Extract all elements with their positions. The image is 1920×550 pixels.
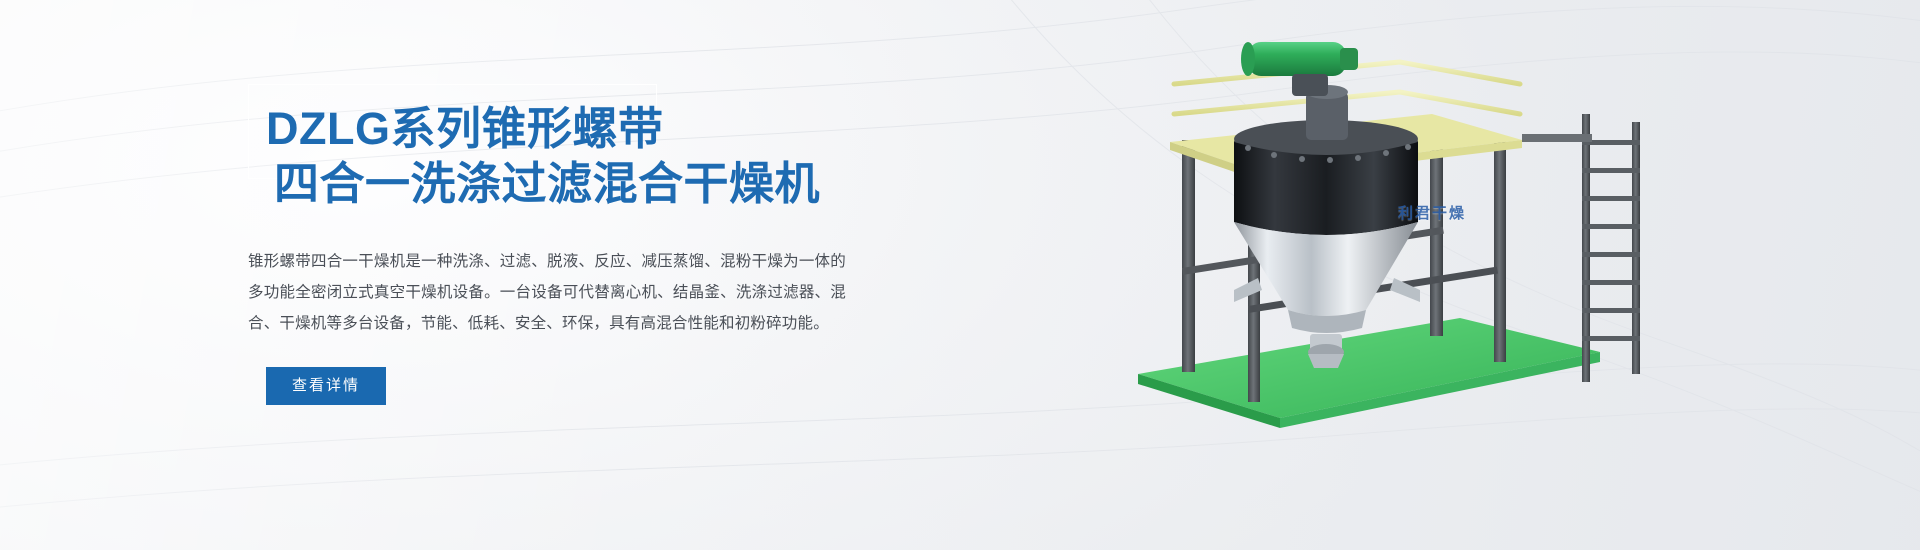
product-description: 锥形螺带四合一干燥机是一种洗涤、过滤、脱液、反应、减压蒸馏、混粉干燥为一体的多功… [248,246,846,339]
floor-platform [1138,318,1600,428]
headline-line-2: 四合一洗涤过滤混合干燥机 [274,157,908,212]
view-details-button[interactable]: 查看详情 [266,367,386,405]
product-image: 利君干燥 [1130,22,1770,442]
page-title: DZLG系列锥形螺带 四合一洗涤过滤混合干燥机 [266,102,908,212]
headline-line-1: DZLG系列锥形螺带 [266,102,908,157]
hero-banner: DZLG系列锥形螺带 四合一洗涤过滤混合干燥机 锥形螺带四合一干燥机是一种洗涤、… [0,0,1920,550]
headline-block: DZLG系列锥形螺带 四合一洗涤过滤混合干燥机 [248,84,908,218]
hero-content: DZLG系列锥形螺带 四合一洗涤过滤混合干燥机 锥形螺带四合一干燥机是一种洗涤、… [248,84,908,405]
dryer-machine-illustration [1130,22,1770,442]
